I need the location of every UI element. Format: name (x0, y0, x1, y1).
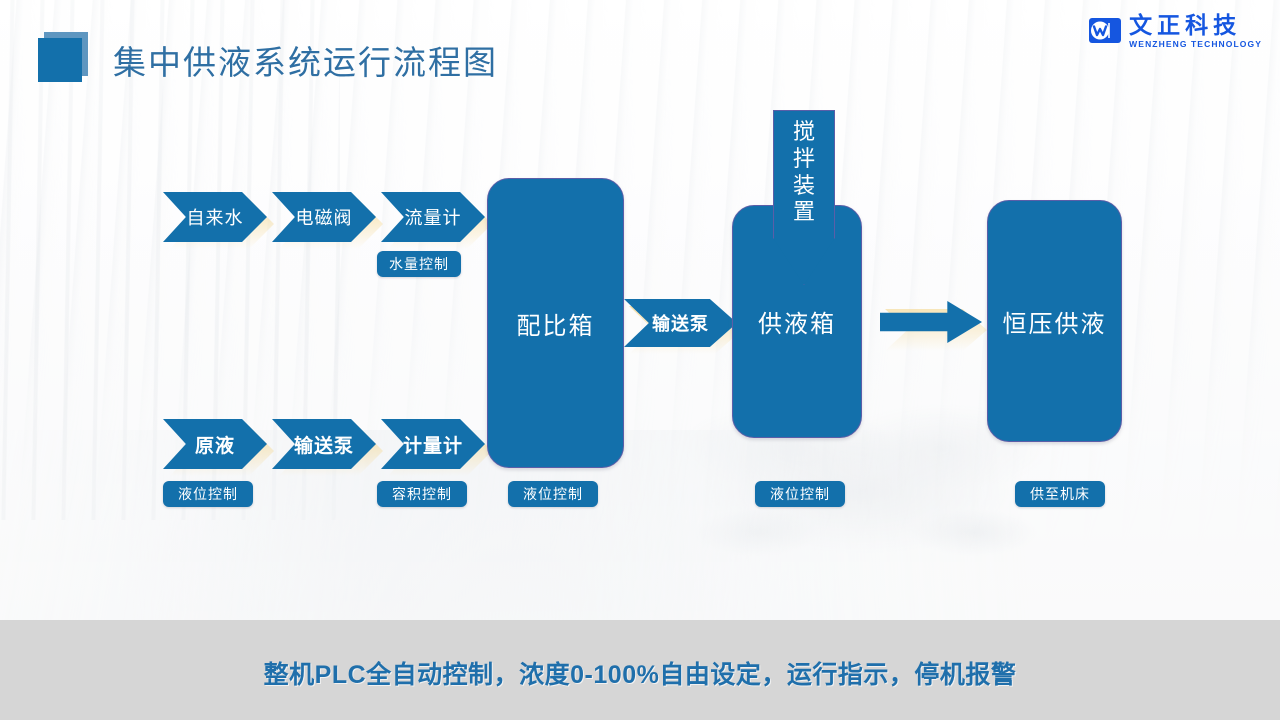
title-square-front (38, 38, 82, 82)
status-badge-volume-control: 容积控制 (377, 481, 467, 507)
flow-node-flow-meter-label: 流量计 (405, 204, 462, 230)
stirrer-char: 装 (793, 173, 815, 200)
logo-text-en: WENZHENG TECHNOLOGY (1129, 40, 1262, 49)
stirrer-char: 搅 (793, 119, 815, 146)
flow-node-mixing-tank[interactable]: 配比箱 (487, 178, 624, 468)
stirrer-char: 拌 (793, 146, 815, 173)
flow-node-solenoid-valve-label: 电磁阀 (296, 204, 353, 230)
company-logo: 文正科技 WENZHENG TECHNOLOGY (1088, 14, 1262, 49)
stirrer-char: 置 (793, 199, 815, 226)
status-badge-level-control-mixing: 液位控制 (508, 481, 598, 507)
flow-node-raw-liquid-label: 原液 (195, 431, 235, 458)
status-badge-level-control-raw: 液位控制 (163, 481, 253, 507)
page-title: 集中供液系统运行流程图 (113, 36, 498, 84)
status-badge-water-volume-control: 水量控制 (377, 251, 461, 277)
flow-node-constant-pressure-supply-label: 恒压供液 (1003, 304, 1107, 339)
flow-node-metering-meter-label: 计量计 (403, 431, 463, 458)
footer-caption: 整机PLC全自动控制，浓度0-100%自由设定，运行指示，停机报警 (0, 655, 1280, 691)
logo-mark-icon (1088, 14, 1122, 48)
status-badge-supply-to-machine: 供至机床 (1015, 481, 1105, 507)
flow-node-tap-water-label: 自来水 (187, 204, 244, 230)
flow-node-mixing-tank-label: 配比箱 (517, 306, 595, 341)
flow-node-constant-pressure-supply[interactable]: 恒压供液 (987, 200, 1122, 442)
slide-canvas: 集中供液系统运行流程图 文正科技 WENZHENG TECHNOLOGY 自来水… (0, 0, 1280, 720)
flow-node-supply-tank-label: 供液箱 (758, 304, 836, 339)
flow-arrow-transfer-pump-label: 输送泵 (652, 310, 709, 336)
flow-node-transfer-pump-bottom-label: 输送泵 (294, 431, 354, 458)
status-badge-level-control-supply: 液位控制 (755, 481, 845, 507)
logo-text-cn: 文正科技 (1129, 14, 1262, 37)
